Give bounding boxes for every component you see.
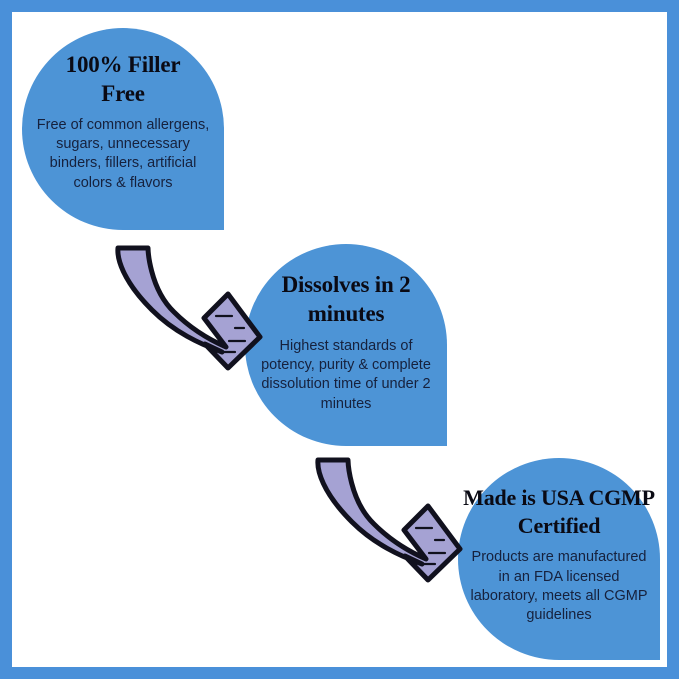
curved-arrow-svg xyxy=(304,452,466,584)
step-title-dissolves: Dissolves in 2 minutes xyxy=(266,270,426,329)
infographic-inner-plate: 100% Filler Free Free of common allergen… xyxy=(12,12,667,667)
step-blob-cgmp: Made is USA CGMP Certified Products are … xyxy=(458,458,660,660)
step-body-dissolves: Highest standards of potency, purity & c… xyxy=(251,337,441,414)
curved-arrow-icon-step2-to-step3 xyxy=(304,452,466,584)
step-body-cgmp: Products are manufactured in an FDA lice… xyxy=(464,548,654,625)
arrow-shaft-and-head-path xyxy=(318,460,460,580)
arrow-body-group xyxy=(318,460,460,580)
step-blob-dissolves: Dissolves in 2 minutes Highest standards… xyxy=(245,244,447,446)
step-title-cgmp: Made is USA CGMP Certified xyxy=(462,484,657,540)
curved-arrow-icon-step1-to-step2 xyxy=(104,240,266,372)
curved-arrow-svg xyxy=(104,240,266,372)
step-blob-filler-free: 100% Filler Free Free of common allergen… xyxy=(22,28,224,230)
step-title-filler-free: 100% Filler Free xyxy=(48,50,198,109)
arrow-body-group xyxy=(118,248,260,368)
arrow-shaft-and-head-path xyxy=(118,248,260,368)
infographic-canvas: 100% Filler Free Free of common allergen… xyxy=(0,0,679,679)
step-body-filler-free: Free of common allergens, sugars, unnece… xyxy=(29,116,217,193)
